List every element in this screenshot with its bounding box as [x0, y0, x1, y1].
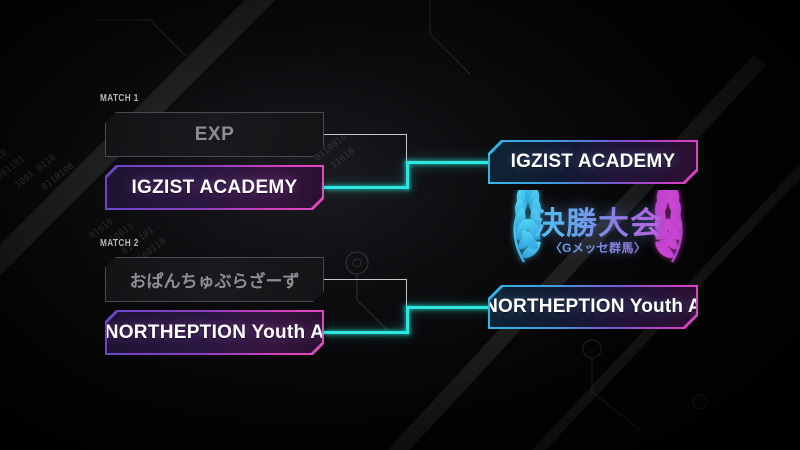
match-1-eliminated-connector-vertical: [406, 134, 407, 161]
match-2-winner-box[interactable]: NORTHEPTION Youth A: [107, 312, 322, 353]
match-1-eliminated-name: EXP: [195, 124, 235, 146]
match-2-advanced-name: NORTHEPTION Youth A: [484, 296, 702, 318]
match-1-winner-connector-vertical: [406, 161, 409, 189]
match-1-winner-box[interactable]: IGZIST ACADEMY: [107, 167, 322, 208]
match-1-winner-connector-horizontal-out: [406, 161, 496, 164]
match-1-advanced-name: IGZIST ACADEMY: [511, 151, 676, 173]
match-2-eliminated-name: おぱんちゅぶらざーず: [130, 267, 300, 292]
emblem-subtitle: 〈Gメッセ群馬〉: [498, 239, 698, 256]
bracket-stage: 10110010 01001101 1001 0110 0110100 0101…: [0, 0, 800, 450]
match-2-eliminated-connector-horizontal: [324, 279, 407, 280]
match-2-eliminated-box[interactable]: おぱんちゅぶらざーず: [105, 257, 324, 302]
match-2-winner-connector-horizontal-out: [406, 306, 496, 309]
match-1-label: MATCH 1: [100, 93, 139, 104]
match-2-winner-name: NORTHEPTION Youth A: [105, 322, 325, 344]
finals-emblem: 決勝大会 〈Gメッセ群馬〉: [498, 190, 698, 270]
match-1-advanced-box[interactable]: IGZIST ACADEMY: [490, 142, 696, 182]
match-2-winner-connector-horizontal-in: [324, 331, 409, 334]
match-2-label: MATCH 2: [100, 238, 139, 249]
match-2-winner-connector-vertical: [406, 306, 409, 334]
match-1-eliminated-connector-horizontal: [324, 134, 407, 135]
match-1-winner-name: IGZIST ACADEMY: [131, 177, 297, 199]
match-2-eliminated-connector-vertical: [406, 279, 407, 306]
match-1-winner-connector-horizontal-in: [324, 186, 409, 189]
match-2-advanced-box[interactable]: NORTHEPTION Youth A: [490, 287, 696, 327]
match-1-eliminated-box[interactable]: EXP: [105, 112, 324, 157]
emblem-title: 決勝大会: [498, 198, 698, 243]
